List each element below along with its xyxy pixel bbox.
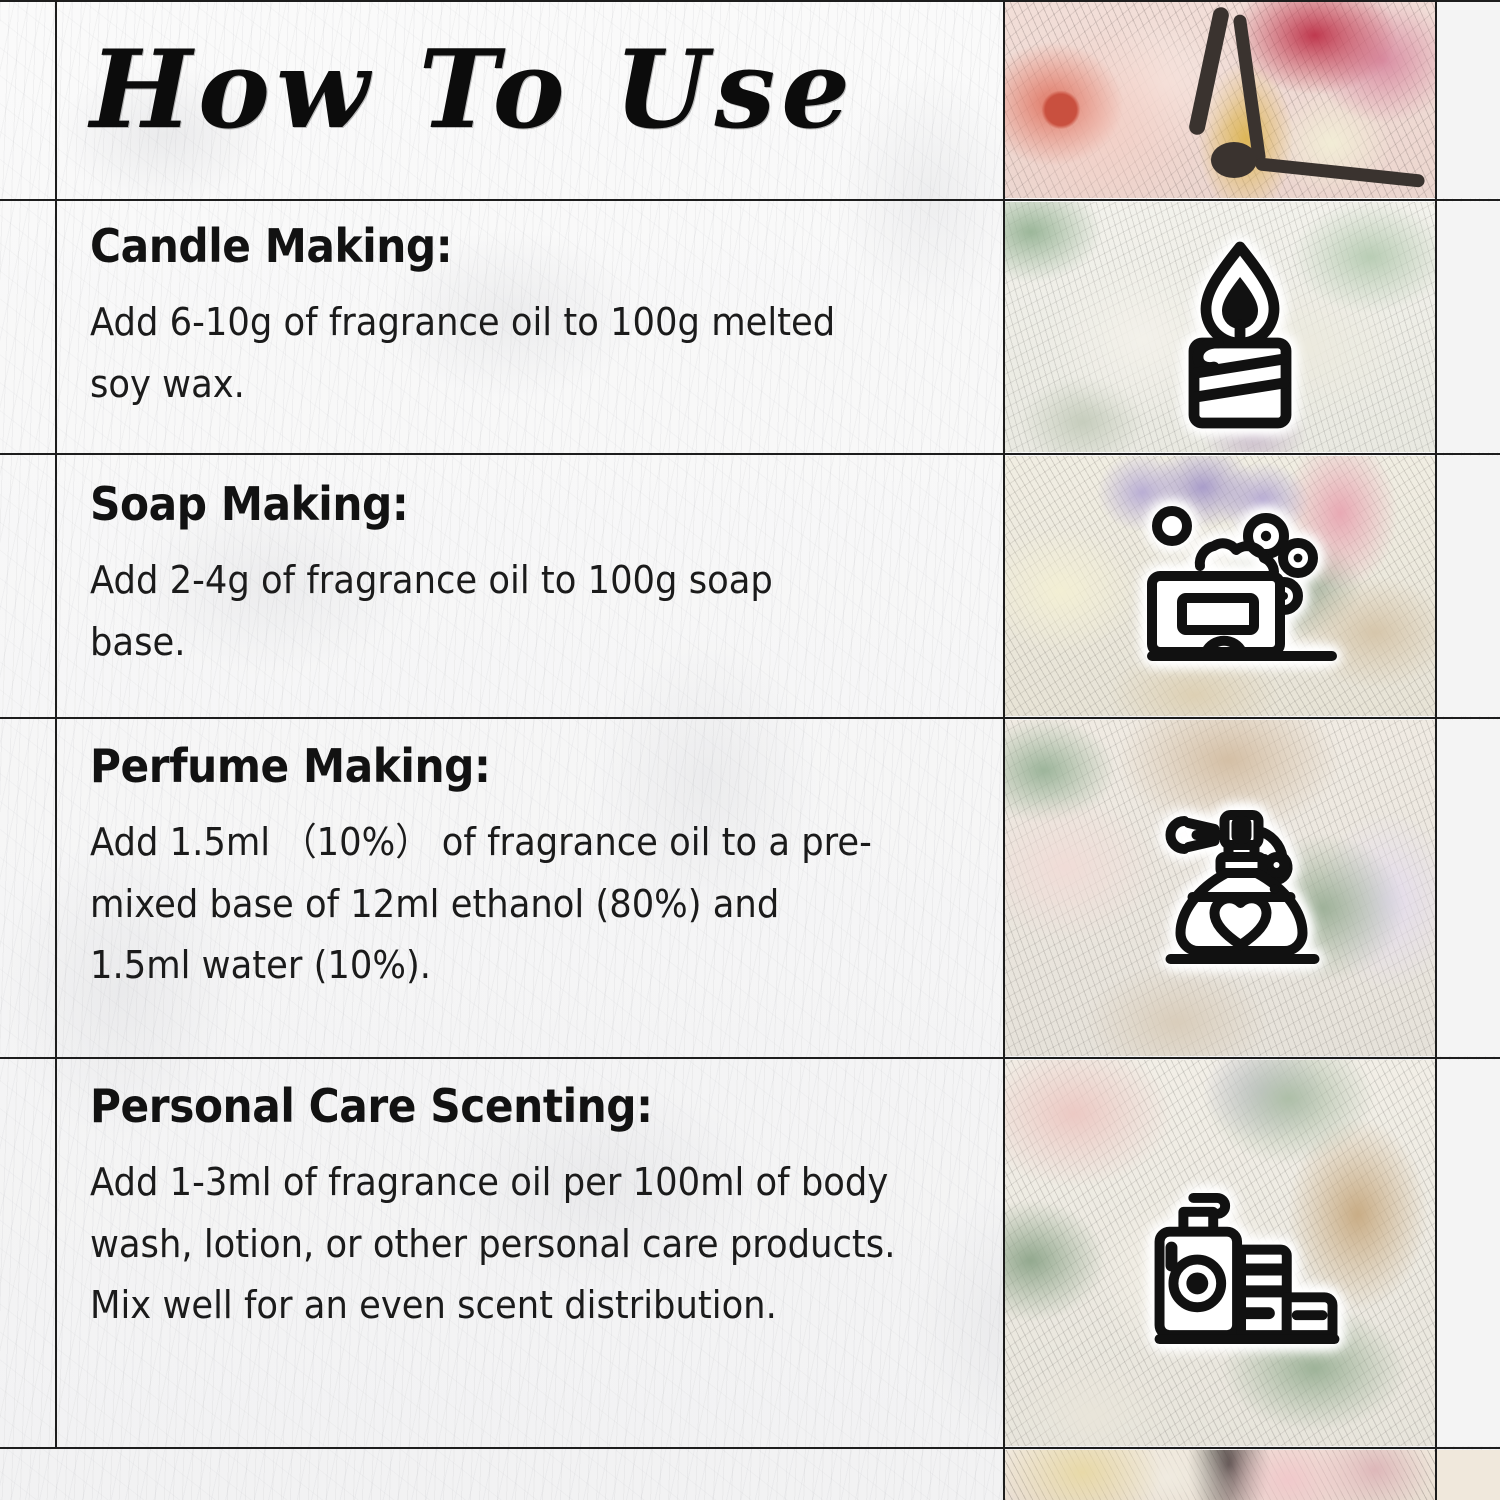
section-perfume-making: Perfume Making: Add 1.5ml （10%） of fragr…	[56, 742, 936, 997]
section-body-perfume-making: Add 1.5ml （10%） of fragrance oil to a pr…	[90, 812, 877, 997]
section-body-personal-care-scenting: Add 1-3ml of fragrance oil per 100ml of …	[90, 1152, 914, 1337]
header-illustration	[1005, 2, 1435, 198]
section-title-personal-care-scenting: Personal Care Scenting:	[90, 1082, 905, 1130]
twine-knot	[1211, 142, 1257, 178]
grid-line-after-header	[0, 199, 1500, 201]
grid-line-after-soap	[0, 717, 1500, 719]
section-candle-making: Candle Making: Add 6-10g of fragrance oi…	[56, 222, 936, 415]
page-title: How To Use	[90, 36, 856, 144]
personal-care-row-illustration-margin	[1435, 1060, 1500, 1446]
section-soap-making: Soap Making: Add 2-4g of fragrance oil t…	[56, 480, 936, 673]
grid-line-after-perfume	[0, 1057, 1500, 1059]
soap-row-illustration-margin	[1435, 456, 1500, 716]
perfume-atomizer-icon	[1140, 805, 1345, 985]
grid-line-column-divider	[1003, 0, 1005, 1500]
bottom-illustration	[1005, 1450, 1435, 1500]
section-title-candle-making: Candle Making:	[90, 222, 868, 270]
perfume-row-illustration-margin	[1435, 720, 1500, 1056]
grid-line-after-personal-care	[0, 1447, 1500, 1449]
header-illustration-margin	[1435, 2, 1500, 198]
section-title-soap-making: Soap Making:	[90, 480, 868, 528]
grid-line-right-margin	[1435, 0, 1437, 1500]
section-body-candle-making: Add 6-10g of fragrance oil to 100g melte…	[90, 292, 877, 415]
section-title-perfume-making: Perfume Making:	[90, 742, 868, 790]
grid-line-after-candle	[0, 453, 1500, 455]
section-body-soap-making: Add 2-4g of fragrance oil to 100g soap b…	[90, 550, 877, 673]
candle-icon	[1150, 233, 1330, 433]
soap-bar-with-bubbles-icon	[1146, 500, 1346, 670]
section-personal-care-scenting: Personal Care Scenting: Add 1-3ml of fra…	[56, 1082, 976, 1337]
candle-row-illustration-margin	[1435, 202, 1500, 452]
how-to-use-infographic: How To Use Candle Making: Add 6-10g of f…	[0, 0, 1500, 1500]
bottom-illustration-margin	[1435, 1450, 1500, 1500]
bottom-illustration-art	[1005, 1450, 1435, 1500]
grid-line-top	[0, 0, 1500, 2]
lotion-bottle-and-tube-icon	[1153, 1184, 1343, 1349]
